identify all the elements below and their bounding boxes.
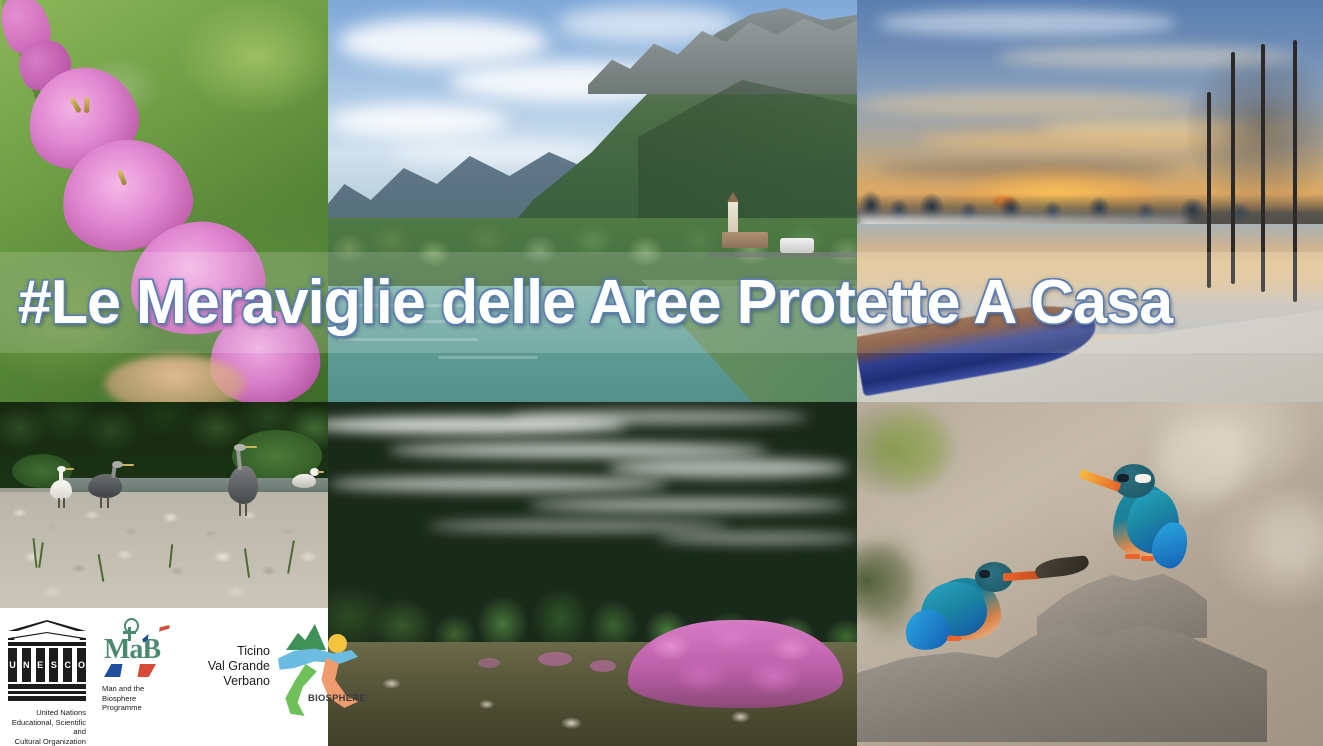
small-heather-clump	[478, 658, 500, 668]
pebble-bank	[0, 492, 328, 608]
flower-anther	[116, 169, 127, 186]
mab-caption-line: Programme	[102, 703, 164, 713]
mab-caption-line: Biosphere	[102, 694, 164, 704]
unesco-letter: O	[78, 660, 85, 670]
cloud	[388, 140, 608, 166]
biosphere-name-line: Ticino	[178, 644, 270, 659]
cloud	[338, 18, 548, 66]
logo-panel: U N E S C O United Nations Educational, …	[0, 608, 328, 746]
green-ribbon-icon	[280, 664, 324, 716]
photo-tile-pink-gladiolus	[0, 0, 328, 402]
flower-anther	[70, 97, 82, 113]
unesco-caption-line: Educational, Scientific and	[8, 718, 86, 737]
logo-unesco: U N E S C O United Nations Educational, …	[0, 608, 92, 746]
unesco-letter: C	[64, 660, 71, 670]
cloud	[328, 104, 508, 138]
biosphere-badge-label: BIOSPHERE	[308, 692, 366, 703]
mab-caption-line: Man and the	[102, 684, 164, 694]
biosphere-name: Ticino Val Grande Verbano	[178, 622, 270, 689]
fish-prey	[1034, 555, 1090, 579]
bare-tree-trunk	[1231, 52, 1235, 284]
unesco-letter: E	[37, 660, 43, 670]
mab-mark-icon: MaB	[104, 620, 164, 670]
unesco-caption-line: Cultural Organization	[8, 737, 86, 746]
cloud	[857, 92, 1197, 116]
cloud	[877, 10, 1177, 36]
bare-tree-trunk	[1261, 44, 1265, 292]
mountain-icon	[286, 624, 326, 650]
logo-mab: MaB Man and the Biosphere Programme	[92, 608, 170, 713]
small-heather-clump	[538, 652, 572, 666]
unesco-letter: S	[51, 660, 57, 670]
biosphere-name-line: Verbano	[178, 674, 270, 689]
unesco-caption: United Nations Educational, Scientific a…	[8, 708, 86, 746]
flower-anther	[84, 97, 90, 113]
photo-tile-grey-herons	[0, 402, 328, 608]
photo-tile-frosty-river-sunrise	[857, 0, 1323, 402]
white-van	[780, 238, 814, 253]
unesco-caption-line: United Nations	[8, 708, 86, 718]
bare-tree-trunk	[1207, 92, 1211, 288]
biosphere-name-line: Val Grande	[178, 659, 270, 674]
mab-stripes-icon	[104, 664, 156, 677]
biosphere-mark-icon: BIOSPHERE	[272, 622, 364, 718]
unesco-temple-icon: U N E S C O	[8, 620, 86, 701]
photo-tile-kingfisher-pair	[857, 402, 1323, 746]
mab-ankh-icon	[123, 618, 136, 640]
logo-biosphere-reserve: Ticino Val Grande Verbano BIOSPHERE	[170, 608, 368, 718]
small-heather-clump	[590, 660, 616, 672]
mab-caption: Man and the Biosphere Programme	[102, 684, 164, 713]
chapel-building	[722, 232, 768, 248]
photo-tile-alpine-valley-river	[328, 0, 857, 402]
photo-tile-heathland-heather	[328, 402, 857, 746]
unesco-letter: U	[9, 660, 16, 670]
bare-tree-trunk	[1293, 40, 1297, 302]
sun-icon	[328, 634, 347, 653]
poster-canvas: #Le Meraviglie delle Aree Protette A Cas…	[0, 0, 1323, 746]
unesco-letter: N	[23, 660, 30, 670]
